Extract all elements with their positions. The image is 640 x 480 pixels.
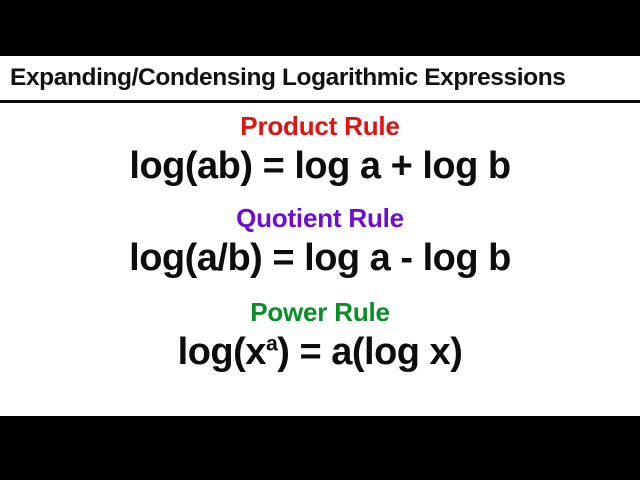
letterbox-bar-top — [0, 0, 640, 56]
page-title: Expanding/Condensing Logarithmic Express… — [0, 64, 566, 92]
rule-heading-product: Product Rule — [0, 111, 640, 141]
rule-block-product: Product Rule log(ab) = log a + log b — [0, 111, 640, 189]
rule-heading-quotient: Quotient Rule — [0, 203, 640, 233]
rule-formula-product: log(ab) = log a + log b — [0, 143, 640, 189]
rules-list: Product Rule log(ab) = log a + log b Quo… — [0, 103, 640, 416]
rule-block-quotient: Quotient Rule log(a/b) = log a - log b — [0, 203, 640, 281]
slide: Expanding/Condensing Logarithmic Express… — [0, 0, 640, 480]
rule-formula-power-prefix: log(x — [178, 331, 266, 373]
slide-content: Expanding/Condensing Logarithmic Express… — [0, 56, 640, 416]
rule-formula-power-suffix: ) = a(log x) — [277, 331, 462, 373]
rule-formula-quotient: log(a/b) = log a - log b — [0, 235, 640, 281]
rule-formula-product-text: log(ab) = log a + log b — [129, 145, 510, 187]
rule-formula-power: log(xa) = a(log x) — [0, 329, 640, 375]
rule-formula-power-exponent: a — [266, 331, 277, 355]
rule-heading-power: Power Rule — [0, 297, 640, 327]
rule-formula-quotient-text: log(a/b) = log a - log b — [129, 237, 511, 279]
letterbox-bar-bottom — [0, 416, 640, 480]
header: Expanding/Condensing Logarithmic Express… — [0, 56, 640, 100]
rule-block-power: Power Rule log(xa) = a(log x) — [0, 297, 640, 375]
